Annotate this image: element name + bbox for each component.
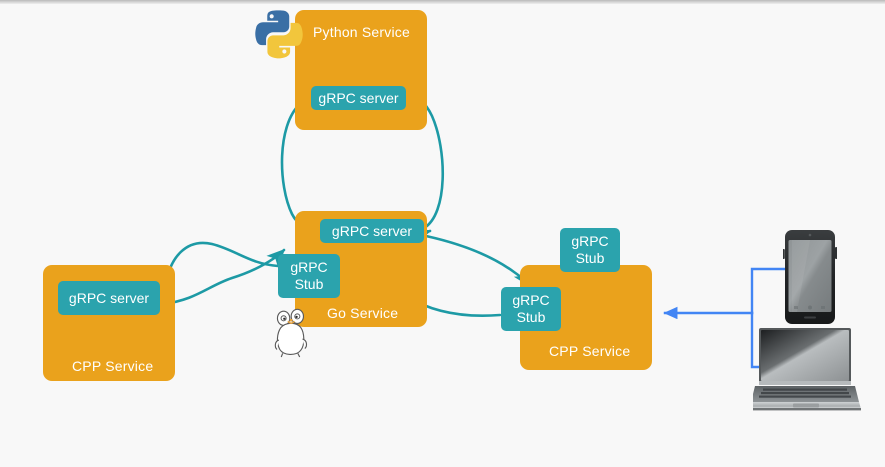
phone-device-icon	[783, 229, 837, 325]
endpoint-go-grpc-stub[interactable]: gRPC Stub	[278, 254, 340, 298]
endpoint-go-grpc-server[interactable]: gRPC server	[320, 219, 424, 243]
python-logo-icon	[251, 6, 305, 60]
endpoint-cpp-right-grpc-stub-left[interactable]: gRPC Stub	[501, 287, 561, 331]
arrow-cpp-left-to-go-stub	[163, 250, 284, 304]
endpoint-cpp-right-grpc-stub-top[interactable]: gRPC Stub	[560, 228, 620, 272]
service-label-cpp-service-right: CPP Service	[549, 343, 630, 359]
service-label-cpp-service-left: CPP Service	[72, 358, 153, 374]
diagram-canvas: Python Service gRPC server Go Service gR…	[0, 0, 885, 467]
arrow-go-stub-to-cpp-left	[163, 243, 278, 297]
endpoint-cpp-left-grpc-server[interactable]: gRPC server	[58, 281, 160, 315]
service-label-go-service: Go Service	[327, 305, 398, 321]
service-label-python-service: Python Service	[313, 24, 410, 40]
endpoint-python-grpc-server[interactable]: gRPC server	[311, 86, 406, 110]
arrow-go-server-to-cpp-right-stub	[426, 236, 530, 286]
laptop-device-icon	[753, 326, 861, 412]
go-gopher-icon	[270, 306, 318, 358]
window-top-strip	[0, 0, 885, 4]
